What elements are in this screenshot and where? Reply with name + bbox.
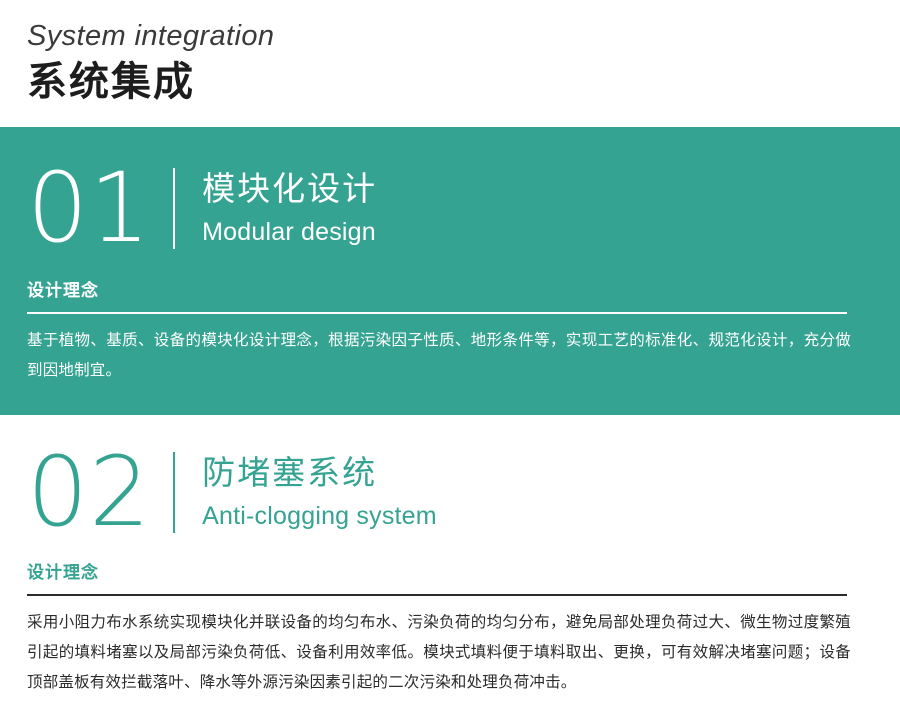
section-rule (27, 594, 847, 596)
section-titles: 模块化设计 Modular design (202, 168, 377, 249)
section-head: 02 防堵塞系统 Anti-clogging system (27, 415, 873, 533)
section-title-cn: 模块化设计 (202, 168, 377, 209)
section-divider-line (173, 168, 175, 249)
section-subhead: 设计理念 (27, 281, 873, 301)
section-body-text: 基于植物、基质、设备的模块化设计理念，根据污染因子性质、地形条件等，实现工艺的标… (27, 326, 851, 386)
section-body-text: 采用小阻力布水系统实现模块化并联设备的均匀布水、污染负荷的均匀分布，避免局部处理… (27, 608, 851, 698)
section-title-cn: 防堵塞系统 (202, 452, 437, 493)
section-anti-clogging-system: 02 防堵塞系统 Anti-clogging system 设计理念 采用小阻力… (0, 415, 900, 714)
section-subhead: 设计理念 (27, 563, 873, 583)
section-number: 02 (27, 452, 151, 533)
section-divider-line (173, 452, 175, 533)
section-titles: 防堵塞系统 Anti-clogging system (202, 452, 437, 533)
page-title: 系统集成 (27, 58, 900, 105)
section-number: 01 (27, 168, 151, 249)
section-rule (27, 312, 847, 314)
page-eyebrow: System integration (27, 18, 900, 54)
section-title-en: Anti-clogging system (202, 500, 437, 533)
section-modular-design: 01 模块化设计 Modular design 设计理念 基于植物、基质、设备的… (0, 127, 900, 415)
section-head: 01 模块化设计 Modular design (27, 127, 873, 249)
section-title-en: Modular design (202, 216, 377, 249)
page-header: System integration 系统集成 (0, 0, 900, 127)
